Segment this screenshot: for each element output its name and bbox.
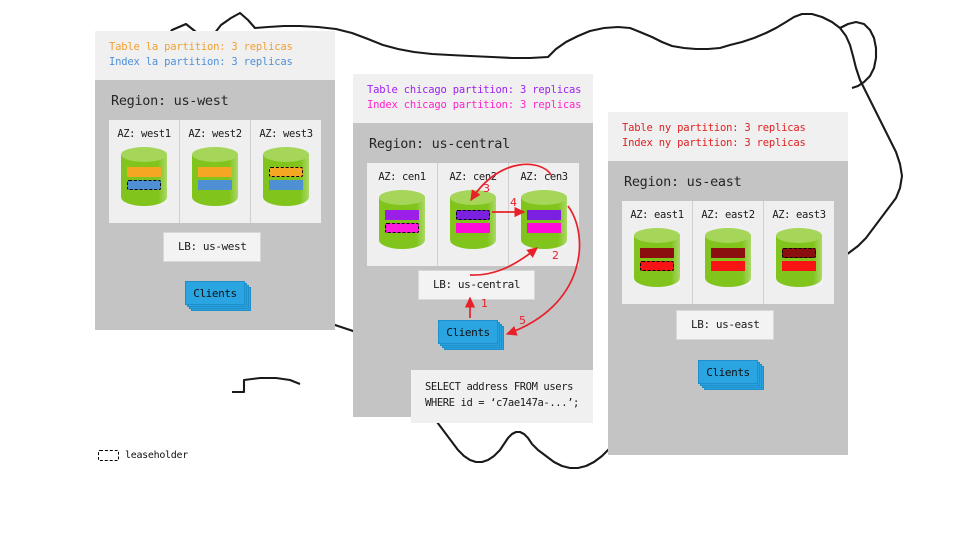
az-label-cen3: AZ: cen3 <box>509 171 579 183</box>
clients-front[interactable]: Clients <box>185 281 245 305</box>
replica-band-table <box>640 248 674 258</box>
partition-line-index: Index ny partition: 3 replicas <box>622 136 836 151</box>
az-cell-east2[interactable]: AZ: east2 <box>692 201 763 304</box>
replica-band-table <box>527 210 561 220</box>
az-label-west3: AZ: west3 <box>251 128 321 140</box>
region-us-east: Table ny partition: 3 replicas Index ny … <box>608 112 848 455</box>
replica-band-table-leaseholder <box>782 248 816 258</box>
clients-us-west[interactable]: Clients <box>185 281 247 307</box>
db-cylinder-east2[interactable] <box>705 228 751 290</box>
region-title-us-central: Region: us-central <box>353 123 593 163</box>
arrow-number-4: 4 <box>510 196 517 209</box>
az-strip-us-west: AZ: west1 AZ: west2 <box>109 120 321 223</box>
partition-line-index: Index la partition: 3 replicas <box>109 55 323 70</box>
replica-bands <box>527 210 561 236</box>
partition-line-table: Table ny partition: 3 replicas <box>622 121 836 136</box>
diagram-canvas: Table la partition: 3 replicas Index la … <box>0 0 960 540</box>
clients-label: Clients <box>706 366 750 379</box>
sql-line-1: SELECT address FROM users <box>425 380 579 396</box>
replica-bands <box>711 248 745 274</box>
replica-band-index <box>198 180 232 190</box>
az-label-cen1: AZ: cen1 <box>367 171 437 183</box>
replica-band-table-leaseholder <box>269 167 303 177</box>
arrow-number-1: 1 <box>481 297 488 310</box>
replica-bands <box>127 167 161 193</box>
db-cylinder-cen1[interactable] <box>379 190 425 252</box>
az-strip-us-central: AZ: cen1 AZ: cen2 <box>367 163 579 266</box>
partition-line-table: Table chicago partition: 3 replicas <box>367 83 581 98</box>
az-cell-west1[interactable]: AZ: west1 <box>109 120 179 223</box>
az-label-east1: AZ: east1 <box>622 209 692 221</box>
replica-bands <box>782 248 816 274</box>
dashed-box-icon <box>98 450 119 461</box>
partition-line-table: Table la partition: 3 replicas <box>109 40 323 55</box>
db-cylinder-cen3[interactable] <box>521 190 567 252</box>
arrow-number-3: 3 <box>483 182 490 195</box>
clients-us-east[interactable]: Clients <box>698 360 760 386</box>
replica-band-index <box>711 261 745 271</box>
partition-banner-us-central: Table chicago partition: 3 replicas Inde… <box>353 74 593 123</box>
partition-banner-us-west: Table la partition: 3 replicas Index la … <box>95 31 335 80</box>
az-label-cen2: AZ: cen2 <box>438 171 508 183</box>
az-label-west1: AZ: west1 <box>109 128 179 140</box>
db-cylinder-east3[interactable] <box>776 228 822 290</box>
clients-front[interactable]: Clients <box>698 360 758 384</box>
replica-band-index-leaseholder <box>640 261 674 271</box>
az-cell-cen1[interactable]: AZ: cen1 <box>367 163 437 266</box>
replica-bands <box>640 248 674 274</box>
clients-label: Clients <box>446 326 490 339</box>
partition-banner-us-east: Table ny partition: 3 replicas Index ny … <box>608 112 848 161</box>
replica-bands <box>456 210 490 236</box>
lb-us-west[interactable]: LB: us-west <box>163 232 261 262</box>
az-strip-us-east: AZ: east1 AZ: east2 <box>622 201 834 304</box>
region-title-us-east: Region: us-east <box>608 161 848 201</box>
clients-us-central[interactable]: Clients <box>438 320 500 346</box>
az-label-west2: AZ: west2 <box>180 128 250 140</box>
az-label-east3: AZ: east3 <box>764 209 834 221</box>
sql-query-box: SELECT address FROM users WHERE id = ‘c7… <box>411 370 593 423</box>
clients-label: Clients <box>193 287 237 300</box>
az-cell-east3[interactable]: AZ: east3 <box>763 201 834 304</box>
db-cylinder-east1[interactable] <box>634 228 680 290</box>
db-cylinder-west3[interactable] <box>263 147 309 209</box>
leaseholder-legend: leaseholder <box>98 450 188 461</box>
partition-line-index: Index chicago partition: 3 replicas <box>367 98 581 113</box>
replica-bands <box>198 167 232 193</box>
az-cell-west3[interactable]: AZ: west3 <box>250 120 321 223</box>
db-cylinder-west1[interactable] <box>121 147 167 209</box>
lb-us-central[interactable]: LB: us-central <box>418 270 535 300</box>
arrow-number-5: 5 <box>519 314 526 327</box>
db-cylinder-west2[interactable] <box>192 147 238 209</box>
replica-band-index-leaseholder <box>127 180 161 190</box>
region-title-us-west: Region: us-west <box>95 80 335 120</box>
az-cell-east1[interactable]: AZ: east1 <box>622 201 692 304</box>
replica-bands <box>385 210 419 236</box>
sql-line-2: WHERE id = ‘c7ae147a-...’; <box>425 396 579 412</box>
replica-band-index <box>456 223 490 233</box>
clients-front[interactable]: Clients <box>438 320 498 344</box>
replica-band-table <box>385 210 419 220</box>
replica-band-table-leaseholder <box>456 210 490 220</box>
replica-bands <box>269 167 303 193</box>
az-label-east2: AZ: east2 <box>693 209 763 221</box>
replica-band-index <box>782 261 816 271</box>
db-cylinder-cen2[interactable] <box>450 190 496 252</box>
replica-band-index <box>269 180 303 190</box>
replica-band-table <box>127 167 161 177</box>
az-cell-west2[interactable]: AZ: west2 <box>179 120 250 223</box>
replica-band-table <box>711 248 745 258</box>
arrow-number-2: 2 <box>552 249 559 262</box>
replica-band-index-leaseholder <box>385 223 419 233</box>
region-us-central: Table chicago partition: 3 replicas Inde… <box>353 74 593 417</box>
region-body-us-east: Region: us-east AZ: east1 AZ: east2 <box>608 161 848 455</box>
replica-band-table <box>198 167 232 177</box>
lb-us-east[interactable]: LB: us-east <box>676 310 774 340</box>
az-cell-cen3[interactable]: AZ: cen3 <box>508 163 579 266</box>
replica-band-index <box>527 223 561 233</box>
az-cell-cen2[interactable]: AZ: cen2 <box>437 163 508 266</box>
leaseholder-legend-label: leaseholder <box>125 450 188 461</box>
